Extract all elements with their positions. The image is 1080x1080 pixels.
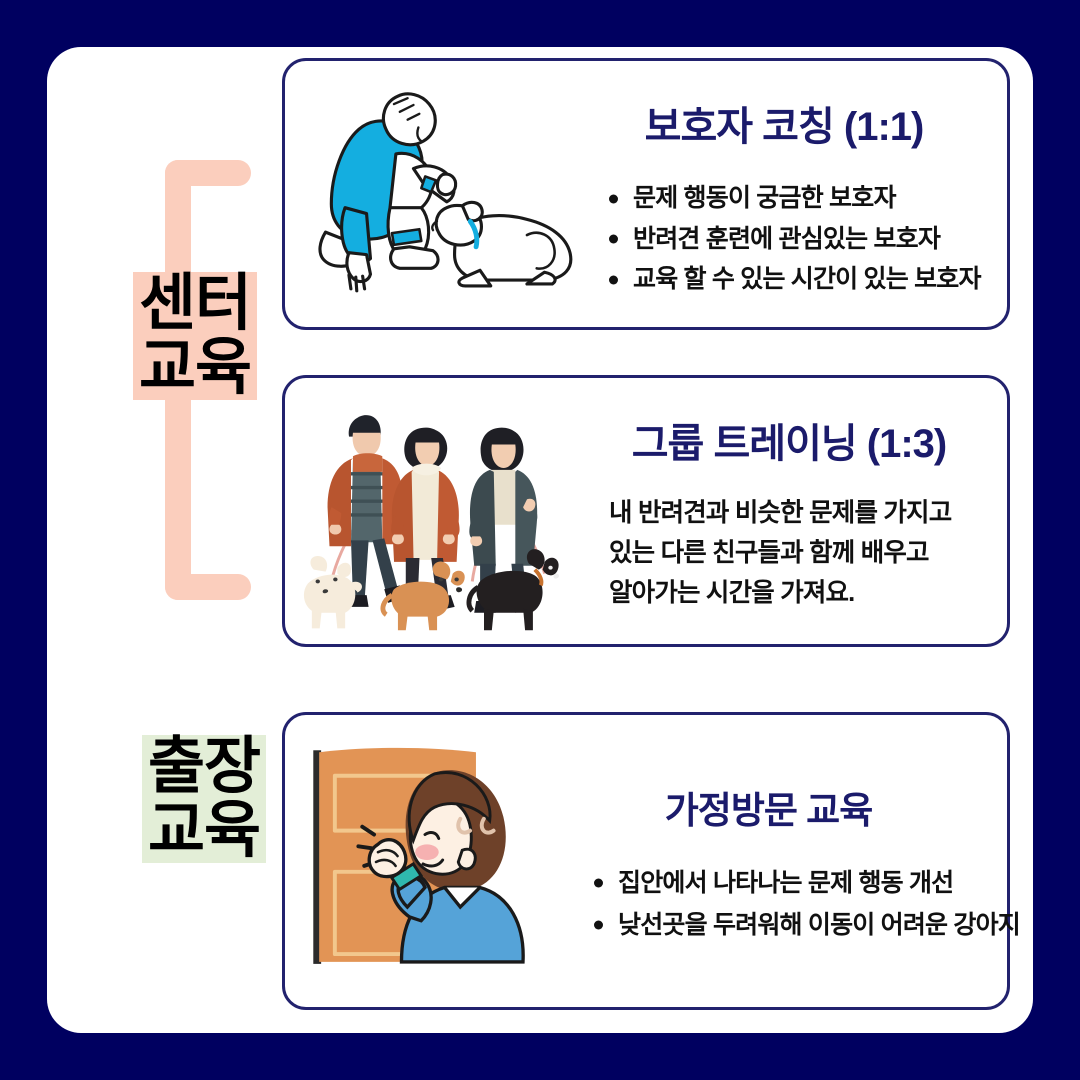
card-1-title: 보호자 코칭 (1:1) (575, 94, 993, 152)
rail-label-visit-line2: 교육 (142, 799, 266, 863)
rail-label-visit-education: 출장 교육 (109, 735, 299, 863)
card-3-title: 가정방문 교육 (540, 780, 997, 834)
card-group-training[interactable]: 그룹 트레이닝 (1:3) 내 반려견과 비슷한 문제를 가지고 있는 다른 친… (282, 375, 1010, 647)
rail-label-visit-line1: 출장 (142, 735, 266, 799)
rail-label-center-line1: 센터 (133, 272, 257, 336)
bracket-arm-top (165, 160, 251, 186)
person-knocking-on-door-illustration (285, 715, 565, 1007)
card-3-bullet-1: 집안에서 나타나는 문제 행동 개선 (588, 862, 997, 905)
card-1-bullet-2: 반려견 훈련에 관심있는 보호자 (603, 219, 993, 260)
white-panel: 센터 교육 출장 교육 (47, 47, 1033, 1033)
card-3-content: 가정방문 교육 집안에서 나타나는 문제 행동 개선 낮선곳을 두려워해 이동이… (540, 715, 997, 1007)
bracket-arm-bottom (165, 574, 251, 600)
card-2-body-line-1: 내 반려견과 비슷한 문제를 가지고 (609, 493, 993, 533)
card-home-visit-education[interactable]: 가정방문 교육 집안에서 나타나는 문제 행동 개선 낮선곳을 두려워해 이동이… (282, 712, 1010, 1010)
card-1-bullet-3: 교육 할 수 있는 시간이 있는 보호자 (603, 259, 993, 300)
card-1-bullet-list: 문제 행동이 궁금한 보호자 반려견 훈련에 관심있는 보호자 교육 할 수 있… (575, 178, 993, 300)
card-2-body: 내 반려견과 비슷한 문제를 가지고 있는 다른 친구들과 함께 배우고 알아가… (585, 493, 993, 614)
card-2-body-line-2: 있는 다른 친구들과 함께 배우고 (609, 533, 993, 573)
rail-label-center-education: 센터 교육 (100, 272, 290, 400)
card-3-bullet-list: 집안에서 나타나는 문제 행동 개선 낮선곳을 두려워해 이동이 어려운 강아지 (540, 862, 997, 947)
card-1-bullet-1: 문제 행동이 궁금한 보호자 (603, 178, 993, 219)
card-1-content: 보호자 코칭 (1:1) 문제 행동이 궁금한 보호자 반려견 훈련에 관심있는… (575, 61, 993, 327)
three-people-walking-three-dogs-illustration (285, 378, 595, 644)
card-3-bullet-2: 낮선곳을 두려워해 이동이 어려운 강아지 (588, 904, 997, 947)
man-kneeling-training-dog-illustration (285, 61, 585, 327)
rail-label-center-line2: 교육 (133, 336, 257, 400)
card-2-title: 그룹 트레이닝 (1:3) (585, 411, 993, 469)
poster-root: 센터 교육 출장 교육 (0, 0, 1080, 1080)
card-2-content: 그룹 트레이닝 (1:3) 내 반려견과 비슷한 문제를 가지고 있는 다른 친… (585, 378, 993, 644)
card-owner-coaching[interactable]: 보호자 코칭 (1:1) 문제 행동이 궁금한 보호자 반려견 훈련에 관심있는… (282, 58, 1010, 330)
card-2-body-line-3: 알아가는 시간을 가져요. (609, 573, 993, 613)
